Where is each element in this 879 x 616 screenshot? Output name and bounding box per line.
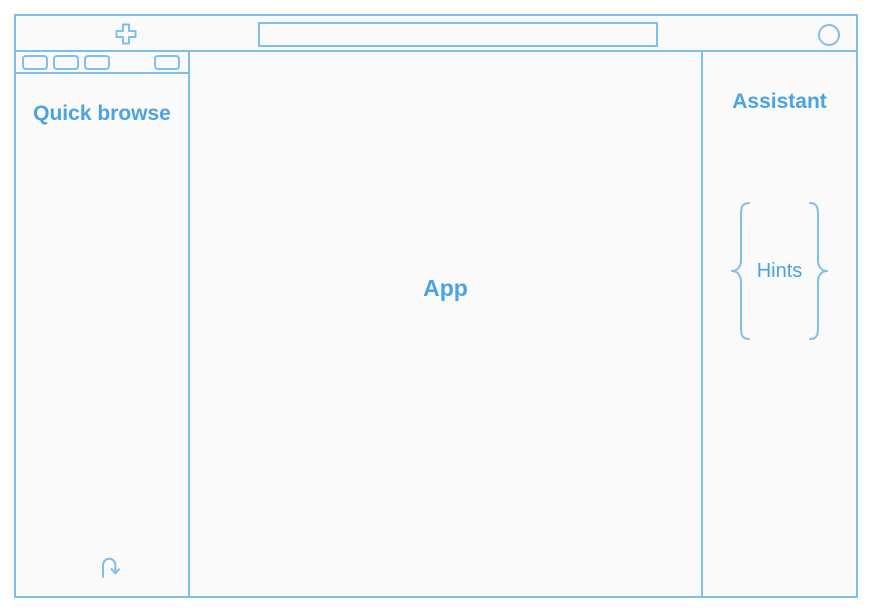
wireframe-window: Quick browse App Assistant bbox=[14, 14, 858, 598]
account-circle-icon[interactable] bbox=[818, 24, 840, 46]
address-input[interactable] bbox=[258, 22, 658, 47]
undo-arrow-icon[interactable] bbox=[96, 552, 126, 582]
tab-chip-3[interactable] bbox=[84, 55, 110, 70]
titlebar bbox=[16, 16, 856, 52]
app-label: App bbox=[423, 275, 468, 302]
tab-chip-1[interactable] bbox=[22, 55, 48, 70]
hints-block: Hints bbox=[711, 200, 848, 342]
quick-browse-title: Quick browse bbox=[16, 100, 188, 128]
plus-icon[interactable] bbox=[114, 22, 138, 46]
tab-chip-overflow[interactable] bbox=[154, 55, 180, 70]
sidebar-tabstrip bbox=[16, 52, 188, 74]
assistant-title: Assistant bbox=[703, 90, 856, 114]
window-body: Quick browse App Assistant bbox=[16, 52, 856, 596]
right-brace-icon bbox=[804, 200, 830, 342]
app-area[interactable]: App bbox=[190, 52, 703, 596]
tab-chip-2[interactable] bbox=[53, 55, 79, 70]
left-brace-icon bbox=[729, 200, 755, 342]
sidebar-content: Quick browse bbox=[16, 74, 188, 596]
hints-label: Hints bbox=[755, 260, 805, 283]
sidebar: Quick browse bbox=[16, 52, 190, 596]
assistant-panel: Assistant Hints bbox=[703, 52, 856, 596]
